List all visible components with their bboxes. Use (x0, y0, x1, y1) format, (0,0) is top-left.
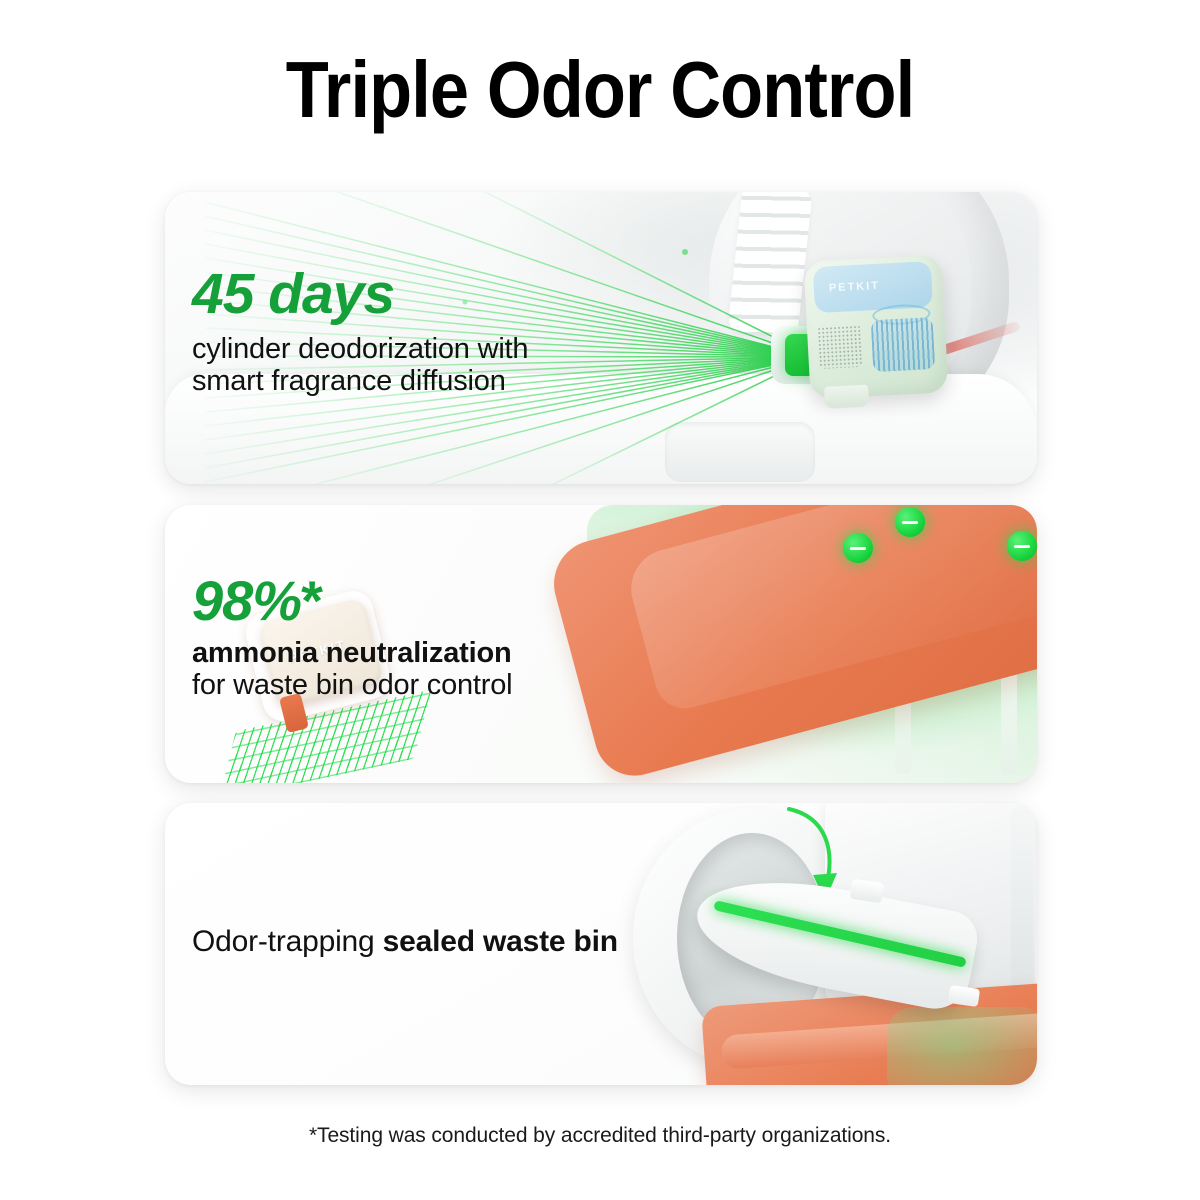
card-1-stat: 45 days (192, 266, 528, 323)
card-1-line-2: smart fragrance diffusion (192, 365, 528, 397)
card-2-stat: 98%* (192, 573, 512, 629)
card-3-text-block: Odor-trapping sealed waste bin (192, 925, 618, 959)
card-2-text-block: 98%* ammonia neutralization for waste bi… (192, 573, 512, 702)
speaker-grille-icon (817, 325, 863, 369)
feature-card-ammonia-neutralization: PETKIT 98%* ammonia neutralization for w… (165, 505, 1037, 783)
deodorizer-foot (824, 384, 869, 408)
footnote-disclaimer: *Testing was conducted by accredited thi… (0, 1124, 1200, 1148)
infographic-page: Triple Odor Control (0, 0, 1200, 1200)
deodorizer-cube: PETKIT (803, 254, 948, 399)
page-title: Triple Odor Control (72, 50, 1128, 130)
fan-coil-icon (871, 317, 936, 372)
feature-card-sealed-waste-bin: Odor-trapping sealed waste bin (165, 803, 1037, 1085)
card-2-stat-asterisk: * (301, 569, 322, 632)
feature-card-cylinder-deodorization: PETKIT 45 days cylinder deodorization wi… (165, 192, 1037, 484)
card-3-text-normal: Odor-trapping (192, 925, 383, 958)
flap-hinge-nub (850, 879, 884, 903)
negative-ion-badge (895, 507, 925, 537)
card-2-line-2: for waste bin odor control (192, 669, 512, 701)
unit-panel-edge (1011, 807, 1033, 997)
card-2-line-1: ammonia neutralization (192, 637, 512, 669)
waste-bin-seal-glow (887, 1007, 1037, 1085)
card-3-line-1: Odor-trapping sealed waste bin (192, 925, 618, 959)
card-1-line-1: cylinder deodorization with (192, 333, 528, 365)
negative-ion-badge (843, 533, 873, 563)
card-2-stat-value: 98% (192, 569, 301, 632)
card-1-text-block: 45 days cylinder deodorization with smar… (192, 266, 528, 398)
card-3-text-bold: sealed waste bin (383, 925, 618, 958)
negative-ion-badge (1007, 531, 1037, 561)
